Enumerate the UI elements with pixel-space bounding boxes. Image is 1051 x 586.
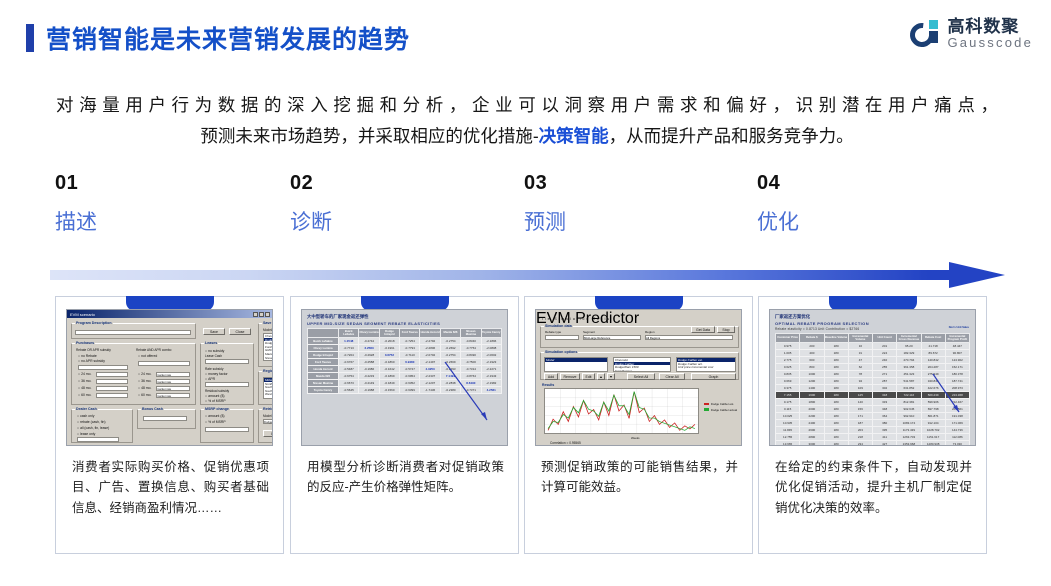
optimal-title-cn: 厂家返还方案优化: [775, 314, 970, 320]
cell: -0.7793: [400, 345, 420, 352]
m3-3[interactable]: Ford Ranger: [614, 369, 670, 372]
label-lease-cash: Lease Cash: [205, 354, 222, 358]
cell: 94: [848, 378, 872, 385]
cell: -0.8490: [461, 352, 481, 359]
step-labels: 01 描述 02 诊断 03 预测 04 优化: [0, 172, 1051, 252]
cell: 41.718: [921, 343, 945, 350]
label-rate-subsidy: Rate subsidy: [205, 367, 223, 371]
select-all-button-3[interactable]: Select All: [627, 373, 655, 380]
step-04-label: 优化: [757, 206, 957, 236]
term-48-input[interactable]: [96, 386, 128, 391]
cell: 180: [824, 385, 848, 392]
cell: 112.086: [945, 434, 969, 441]
radio-no-apr-subsidy[interactable]: no APR subsidy: [78, 359, 105, 363]
cell: -2.0702: [420, 352, 440, 359]
radio-apr[interactable]: APR: [205, 377, 215, 381]
cell: 125: [848, 392, 872, 399]
cell: -0.8764: [461, 373, 481, 380]
cell: 3000: [800, 441, 824, 447]
cell: -0.2838: [440, 380, 460, 387]
cell: -0.2149: [359, 380, 379, 387]
group-dealer-cash: Dealer Cash cash only rebate (cash, fin)…: [71, 409, 133, 443]
group-label-leases: Leases: [204, 341, 218, 345]
step-01-label: 描述: [55, 206, 255, 236]
card-04-caption: 在给定的约束条件下，自动发现并优化促销活动，提升主机厂制定促销优化决策的效率。: [775, 457, 972, 518]
group-label-msrp-change: MSRP change: [204, 407, 230, 411]
intro-paragraph: 对海量用户行为数据的深入挖掘和分析，企业可以洞察用户需求和偏好，识别潜在用户痛点…: [52, 90, 1002, 151]
cell: 1.005: [776, 350, 800, 357]
move-up-button[interactable]: ▲: [597, 373, 605, 380]
cell: -0.7754: [461, 345, 481, 352]
rate-24-select[interactable]: market rate: [156, 372, 190, 377]
cell: 16: [848, 343, 872, 350]
radio-residual-pct[interactable]: % of MSRP: [205, 399, 226, 403]
cell: 73.030: [945, 441, 969, 447]
cell: -0.1899: [379, 373, 399, 380]
term-60-left[interactable]: 60 mo.: [78, 393, 91, 397]
card-row: EVM scenario Program Description Save Cl…: [0, 296, 1051, 566]
col-3: Ford Taurus: [400, 329, 420, 338]
cell: -0.2018: [379, 338, 399, 345]
card-01-caption: 消费者实际购买价格、促销优惠项目、广告、置换信息、购买者基础信息、经销商盈利情况…: [72, 457, 269, 518]
cell: 1173.439: [897, 427, 921, 434]
term-24-right[interactable]: 24 mo.: [138, 372, 151, 376]
card-03-predict[interactable]: EVM Predictor File Simulation Tools Simu…: [524, 296, 753, 554]
rate-60-select[interactable]: market rate: [156, 393, 190, 398]
save-button[interactable]: Save: [203, 328, 225, 335]
cell: 0.835: [776, 371, 800, 378]
cell: 1263.703: [897, 434, 921, 441]
radio-no-subsidy[interactable]: no subsidy: [205, 349, 224, 353]
cell: 0.375: [776, 385, 800, 392]
cell: 1353.968: [897, 441, 921, 447]
cell: 318: [873, 392, 897, 399]
models-listbox[interactable]: Chevrolet 000 Dodge/Caliber Dodge/Aspen …: [263, 333, 273, 361]
cell: -0.2233: [359, 373, 379, 380]
cell: 180: [824, 434, 848, 441]
step-02: 02 诊断: [290, 172, 490, 236]
cell: 187.741: [945, 378, 969, 385]
row-header: Dodge Intrepid: [308, 352, 339, 359]
logo-name-cn: 高科数聚: [947, 18, 1033, 36]
paragraph-line-2: 预测未来市场趋势，并采取相应的优化措施-决策智能，从而提升产品和服务竞争力。: [52, 121, 1002, 152]
col-6: Nissan Maxima: [461, 329, 481, 338]
cell: 1280.938: [921, 441, 945, 447]
row-header: Nissan Maxima: [308, 380, 339, 387]
purchase-amount-input[interactable]: [78, 365, 128, 370]
cell: 812.381: [897, 399, 921, 406]
radio-not-offered[interactable]: not offered: [138, 354, 157, 358]
cell: 204.287: [921, 364, 945, 371]
cell: 340.846: [921, 378, 945, 385]
chart-xlabel: Weeks: [631, 436, 640, 440]
table-row: Chevy Lumina -0.77132.2583-0.1991-0.7793…: [308, 345, 502, 352]
lease-cash-input[interactable]: [205, 359, 249, 364]
cell: -0.5645: [339, 387, 359, 394]
table-row: Buick LaSabre 1.1548-0.2742-0.2018-0.725…: [308, 338, 502, 345]
cell: -0.6954: [400, 373, 420, 380]
cell: 180: [824, 420, 848, 427]
group-regions: Region(s) Midwest Northeast Southeast So…: [258, 371, 273, 405]
cell: 2.775: [776, 357, 800, 364]
models-listbox-3[interactable]: ChevroletDodge CaliberDodge/Ram 1500Ford…: [613, 357, 671, 372]
label-rebate-apr-combo: Rebate AND APR combo: [136, 348, 194, 352]
cell: 255: [873, 364, 897, 371]
cell: 270.794: [897, 357, 921, 364]
cell: 2400: [800, 420, 824, 427]
cell: 62: [848, 364, 872, 371]
cell: 7.155: [776, 392, 800, 399]
cell: 333: [873, 399, 897, 406]
cell: -0.2588: [359, 359, 379, 366]
cell: -0.2754: [440, 338, 460, 345]
radio-msrp-amount[interactable]: amount ($): [205, 414, 224, 418]
card-01-describe[interactable]: EVM scenario Program Description Save Cl…: [55, 296, 284, 554]
cell: -0.1986: [359, 366, 379, 373]
cell: 1200: [800, 378, 824, 385]
radio-msrp-pct[interactable]: % of MSRP: [205, 420, 226, 424]
cell: 152.171: [945, 364, 969, 371]
cell: -0.1560: [379, 387, 399, 394]
group-label-save-incentives: Save incentives: [262, 321, 273, 325]
slide: 营销智能是未来营销发展的趋势 高科数聚 Gausscode 对海量用户行为数据的…: [0, 0, 1051, 586]
chart-legend: Dodge Caliber est. Dodge Caliber actual: [704, 402, 737, 413]
cell: 90.807: [945, 350, 969, 357]
rate-48-select[interactable]: market rate: [156, 386, 190, 391]
cell: 395: [873, 427, 897, 434]
cell: 180: [824, 406, 848, 413]
cell: -0.7713: [339, 345, 359, 352]
radio-no-rebate[interactable]: no Rebate: [78, 354, 97, 358]
scenario-item-0[interactable]: Model: [545, 358, 607, 362]
window-buttons[interactable]: [253, 312, 270, 317]
table-row: 0.669120018094287541.587340.846187.741: [776, 378, 970, 385]
cell: 1028.702: [921, 427, 945, 434]
term-48-left[interactable]: 48 mo.: [78, 386, 91, 390]
cell: 95.20: [897, 343, 921, 350]
window-titlebar: EVM scenario: [67, 310, 272, 318]
msrp-change-input[interactable]: [205, 427, 249, 432]
optimal-corner-note: Nov's Unit Sales: [949, 326, 969, 329]
cell: 208.973: [945, 385, 969, 392]
t4-col-3: Incremental Volume: [848, 334, 872, 343]
group-msrp-change: MSRP change amount ($) % of MSRP: [200, 409, 254, 443]
cell: 0.625: [776, 364, 800, 371]
step-03: 03 预测: [524, 172, 724, 236]
retrieve-clear-button[interactable]: Clear: [263, 430, 273, 437]
cell: 180: [824, 392, 848, 399]
cell: 212.467: [945, 399, 969, 406]
description-input[interactable]: [75, 330, 191, 335]
label-retrieve-model: Model: [263, 414, 272, 418]
cell: -0.7371: [461, 387, 481, 394]
optimal-rebate-table: Customer Price Rebate $ Baseline Volume …: [775, 333, 970, 446]
cell: -0.1991: [379, 345, 399, 352]
cell: 191.038: [945, 413, 969, 420]
elasticity-table: Buick LaSabre Chevy Lumina Dodge Intrepi…: [307, 328, 502, 394]
label-rebate-type: Rebate type: [545, 330, 561, 334]
term-24-input[interactable]: [96, 372, 128, 377]
cell: 140.842: [921, 357, 945, 364]
cell: 992.910: [897, 413, 921, 420]
cell: 451.323: [897, 371, 921, 378]
cell: -0.7314: [461, 366, 481, 373]
cell: 203: [848, 427, 872, 434]
cell: -0.7204: [339, 352, 359, 359]
radio-all-cash[interactable]: all (cash, fin, lease): [77, 426, 109, 430]
cell: 180: [824, 413, 848, 420]
series-listbox[interactable]: Dodge Caliber est.Dodge Caliber act.Unit…: [676, 357, 736, 372]
optimal-title-en: OPTIMAL REBATE PROGRAM SELECTION: [775, 321, 970, 326]
cell: -2.2271: [481, 366, 501, 373]
prediction-chart: [544, 388, 699, 434]
term-36-left[interactable]: 36 mo.: [78, 379, 91, 383]
cell: 801.871: [921, 413, 945, 420]
table-header-row: Buick LaSabre Chevy Lumina Dodge Intrepi…: [308, 329, 502, 338]
cell: -0.5747: [400, 366, 420, 373]
group-label-bonus-cash: Bonus Cash: [141, 407, 164, 411]
group-label-purchases: Purchases: [75, 341, 95, 345]
cell: 2.2583: [359, 345, 379, 352]
label-results: Results: [542, 383, 554, 387]
cell: 180.378: [945, 371, 969, 378]
combo-amount-input[interactable]: [138, 361, 190, 366]
cell: 631.852: [897, 385, 921, 392]
table-row: 0.3751400180109302631.852422.676208.973: [776, 385, 970, 392]
cell: -2.2806: [420, 345, 440, 352]
paragraph-line-2-a: 预测未来市场趋势，并采取相应的优化措施-: [200, 126, 538, 146]
cell: -2.0602: [481, 352, 501, 359]
table-row: Ford Taurus -0.6767-0.2588-0.18606.9480-…: [308, 359, 502, 366]
table-row: Nissan Maxima -0.6673-0.2149-0.1849-0.63…: [308, 380, 502, 387]
rebate-type-select[interactable]: [545, 335, 579, 340]
cell: 171: [848, 413, 872, 420]
card-02-thumbnail: 大中型轿车的厂家现金返还弹性 UPPER MID-SIZE SEDAN SEGM…: [301, 309, 508, 446]
radio-rebate-cash[interactable]: rebate (cash, fin): [77, 420, 106, 424]
segment-select[interactable]: Mid-Large Reference: [583, 335, 641, 340]
remove-button[interactable]: Remove: [560, 373, 580, 380]
cell: -2.2337: [420, 373, 440, 380]
elasticity-title-cn: 大中型轿车的厂家现金返还弹性: [307, 314, 502, 320]
move-down-button[interactable]: ▼: [607, 373, 615, 380]
term-48-right[interactable]: 48 mo.: [138, 386, 151, 390]
term-60-right[interactable]: 60 mo.: [138, 393, 151, 397]
cell: 1600: [800, 392, 824, 399]
graph-button[interactable]: Graph: [691, 373, 736, 380]
optimal-rebate-panel: 厂家返还方案优化 OPTIMAL REBATE PROGRAM SELECTIO…: [770, 310, 975, 445]
region-select[interactable]: All Regions: [645, 335, 733, 340]
radio-cash-only[interactable]: cash only: [77, 414, 94, 418]
col-0: Buick LaSabre: [339, 329, 359, 338]
step-04-number: 04: [757, 172, 957, 195]
cell: 10.025: [776, 413, 800, 420]
cell: 180: [824, 357, 848, 364]
t4-col-2: Baseline Volume: [824, 334, 848, 343]
cell: 400: [800, 350, 824, 357]
cell: -2.1896: [481, 338, 501, 345]
group-purchases: Purchases Rebate OR APR subsidy Rebate A…: [71, 343, 196, 405]
cell: -0.2380: [440, 387, 460, 394]
cell: 1000: [800, 371, 824, 378]
card-03-caption: 预测促销政策的可能销售结果，并计算可能效益。: [541, 457, 738, 498]
step-02-number: 02: [290, 172, 490, 195]
cell: 0.669: [776, 378, 800, 385]
cell: -2.1497: [420, 359, 440, 366]
cell: -0.6673: [339, 380, 359, 387]
cell: 0.175: [776, 399, 800, 406]
group-save-incentives: Save incentives Model(s) Chevrolet 000 D…: [258, 323, 273, 367]
clear-all-button-3[interactable]: Clear All: [659, 373, 685, 380]
predictor-titlebar: EVM Predictor: [536, 310, 741, 317]
model-item-6[interactable]: Nissan/Frontier: [264, 356, 273, 360]
table-row: Honda Accord -0.5487-0.1986-0.1642-0.574…: [308, 366, 502, 373]
table-row: 0.1152000180156348902.645697.798204.861: [776, 406, 970, 413]
stop-button[interactable]: Stop: [717, 326, 735, 333]
cell: -1.7436: [420, 387, 440, 394]
step-04: 04 优化: [757, 172, 957, 236]
region-item-4[interactable]: West: [264, 392, 273, 396]
evm-predictor-window: EVM Predictor File Simulation Tools Simu…: [536, 310, 741, 445]
table-row: 10.93524001801873801083.174912.104171.06…: [776, 420, 970, 427]
cell: 140: [848, 399, 872, 406]
dealer-cash-input[interactable]: [77, 437, 119, 442]
row-header: Mazda 626: [308, 373, 339, 380]
row-header: Honda Accord: [308, 366, 339, 373]
rate-subsidy-input[interactable]: [205, 382, 249, 387]
cell: -2.1982: [481, 380, 501, 387]
label-models: Model(s): [263, 328, 273, 332]
cell: -0.7110: [400, 352, 420, 359]
label-region: Region: [645, 330, 655, 334]
cell: 1151.617: [921, 434, 945, 441]
title-text: 营销智能是未来营销发展的趋势: [46, 20, 410, 56]
cell: 697.798: [921, 406, 945, 413]
group-label-simulation-data: Simulation data: [544, 324, 573, 328]
cell: 180: [824, 343, 848, 350]
term-36-right[interactable]: 36 mo.: [138, 379, 151, 383]
bonus-cash-input[interactable]: [143, 416, 187, 421]
radio-lease-only[interactable]: lease only: [77, 432, 95, 436]
term-36-input[interactable]: [96, 379, 128, 384]
scenarios-listbox[interactable]: Model: [544, 357, 608, 372]
card-02-diagnose[interactable]: 大中型轿车的厂家现金返还弹性 UPPER MID-SIZE SEDAN SEGM…: [290, 296, 519, 554]
cell: 271: [873, 371, 897, 378]
cell: 109: [848, 385, 872, 392]
close-button[interactable]: Close: [229, 328, 251, 335]
label-rebate-apr: Rebate OR APR subsidy: [76, 348, 132, 352]
card-04-thumbnail: 厂家返还方案优化 OPTIMAL REBATE PROGRAM SELECTIO…: [769, 309, 976, 446]
cell: 361.358: [897, 364, 921, 371]
row-header: Toyota Camry: [308, 387, 339, 394]
cell: 10.935: [776, 420, 800, 427]
cell: -0.7500: [461, 359, 481, 366]
cell: 722.116: [897, 392, 921, 399]
t4-col-6: Rebate Cost: [921, 334, 945, 343]
t4-col-7: Incremental Program Profit: [945, 334, 969, 343]
edit-button[interactable]: Edit: [582, 373, 595, 380]
cell: 1083.174: [897, 420, 921, 427]
table-row: 11.84526001802033951173.4391028.702144.7…: [776, 427, 970, 434]
cell: 6.9480: [400, 359, 420, 366]
step-02-label: 诊断: [290, 206, 490, 236]
cell: 180: [824, 399, 848, 406]
table-header-row: Customer Price Rebate $ Baseline Volume …: [776, 334, 970, 343]
cell: 156: [848, 406, 872, 413]
cell: 0.115: [776, 406, 800, 413]
cell: 600: [800, 357, 824, 364]
t4-col-4: Unit Count: [873, 334, 897, 343]
step-03-number: 03: [524, 172, 724, 195]
cell: -0.6352: [400, 380, 420, 387]
cell: 11.845: [776, 427, 800, 434]
radio-residual-amount[interactable]: amount ($): [205, 394, 224, 398]
term-60-input[interactable]: [96, 393, 128, 398]
group-simulation-options: Simulation options Model ChevroletDodge …: [540, 352, 739, 380]
term-24-left[interactable]: 24 mo.: [78, 372, 91, 376]
col-1: Chevy Lumina: [359, 329, 379, 338]
group-label-simulation-options: Simulation options: [544, 350, 578, 354]
cell: -0.6767: [339, 359, 359, 366]
logo-name-en: Gausscode: [947, 36, 1033, 50]
cell: 200: [800, 343, 824, 350]
table-row: 0.9752001801620195.2041.71848.447: [776, 343, 970, 350]
cell: 204.861: [945, 406, 969, 413]
cell: 2600: [800, 427, 824, 434]
table-row: 7.1551600180125318722.116509.239213.368: [776, 392, 970, 399]
cell: -0.2293: [440, 366, 460, 373]
cell: 182.329: [897, 350, 921, 357]
correlation-text: Correlation = 0.95565: [550, 441, 581, 445]
cell: 218: [848, 434, 872, 441]
cell: 902.645: [897, 406, 921, 413]
paragraph-highlight: 决策智能: [539, 126, 609, 146]
cell: 411: [873, 434, 897, 441]
group-retrieve-incentives: Retrieve incentives Model Region Dodge/C…: [258, 409, 273, 443]
cell: -0.6399: [400, 387, 420, 394]
cell: -0.1988: [359, 387, 379, 394]
group-label-dealer-cash: Dealer Cash: [75, 407, 98, 411]
cell: -0.2754: [440, 352, 460, 359]
arrow-head-icon: [949, 262, 1005, 288]
retrieve-model-select[interactable]: Dodge/Caliber: [263, 419, 273, 424]
cell: 427: [873, 441, 897, 447]
elasticity-matrix: 大中型轿车的厂家现金返还弹性 UPPER MID-SIZE SEDAN SEGM…: [302, 310, 507, 445]
t4-col-0: Customer Price: [776, 334, 800, 343]
get-data-button[interactable]: Get Data: [691, 326, 715, 333]
t4-col-1: Rebate $: [800, 334, 824, 343]
window-title: EVM scenario: [70, 312, 95, 317]
group-program-description: Program Description: [71, 323, 196, 339]
s3-2[interactable]: Unit price incremental cost: [677, 365, 735, 369]
cell: -2.2792: [420, 338, 440, 345]
cell: 8.6490: [461, 380, 481, 387]
cell: -0.1860: [379, 359, 399, 366]
add-button[interactable]: Add: [544, 373, 558, 380]
card-04-optimize[interactable]: 厂家返还方案优化 OPTIMAL REBATE PROGRAM SELECTIO…: [758, 296, 987, 554]
rate-36-select[interactable]: market rate: [156, 379, 190, 384]
step-01-number: 01: [55, 172, 255, 195]
table-row: 0.835100018078271451.323275.949180.378: [776, 371, 970, 378]
label-residual-subsidy: Residual subsidy: [205, 389, 229, 393]
cell: -2.1943: [481, 373, 501, 380]
radio-money-factor[interactable]: money factor: [205, 372, 228, 376]
cell: 599.906: [921, 399, 945, 406]
row-header: Buick LaSabre: [308, 338, 339, 345]
regions-listbox[interactable]: Midwest Northeast Southeast Southwest We…: [263, 377, 273, 399]
cell: -0.5487: [339, 366, 359, 373]
group-leases: Leases no subsidy Lease Cash Rate subsid…: [200, 343, 254, 405]
cell: 422.676: [921, 385, 945, 392]
